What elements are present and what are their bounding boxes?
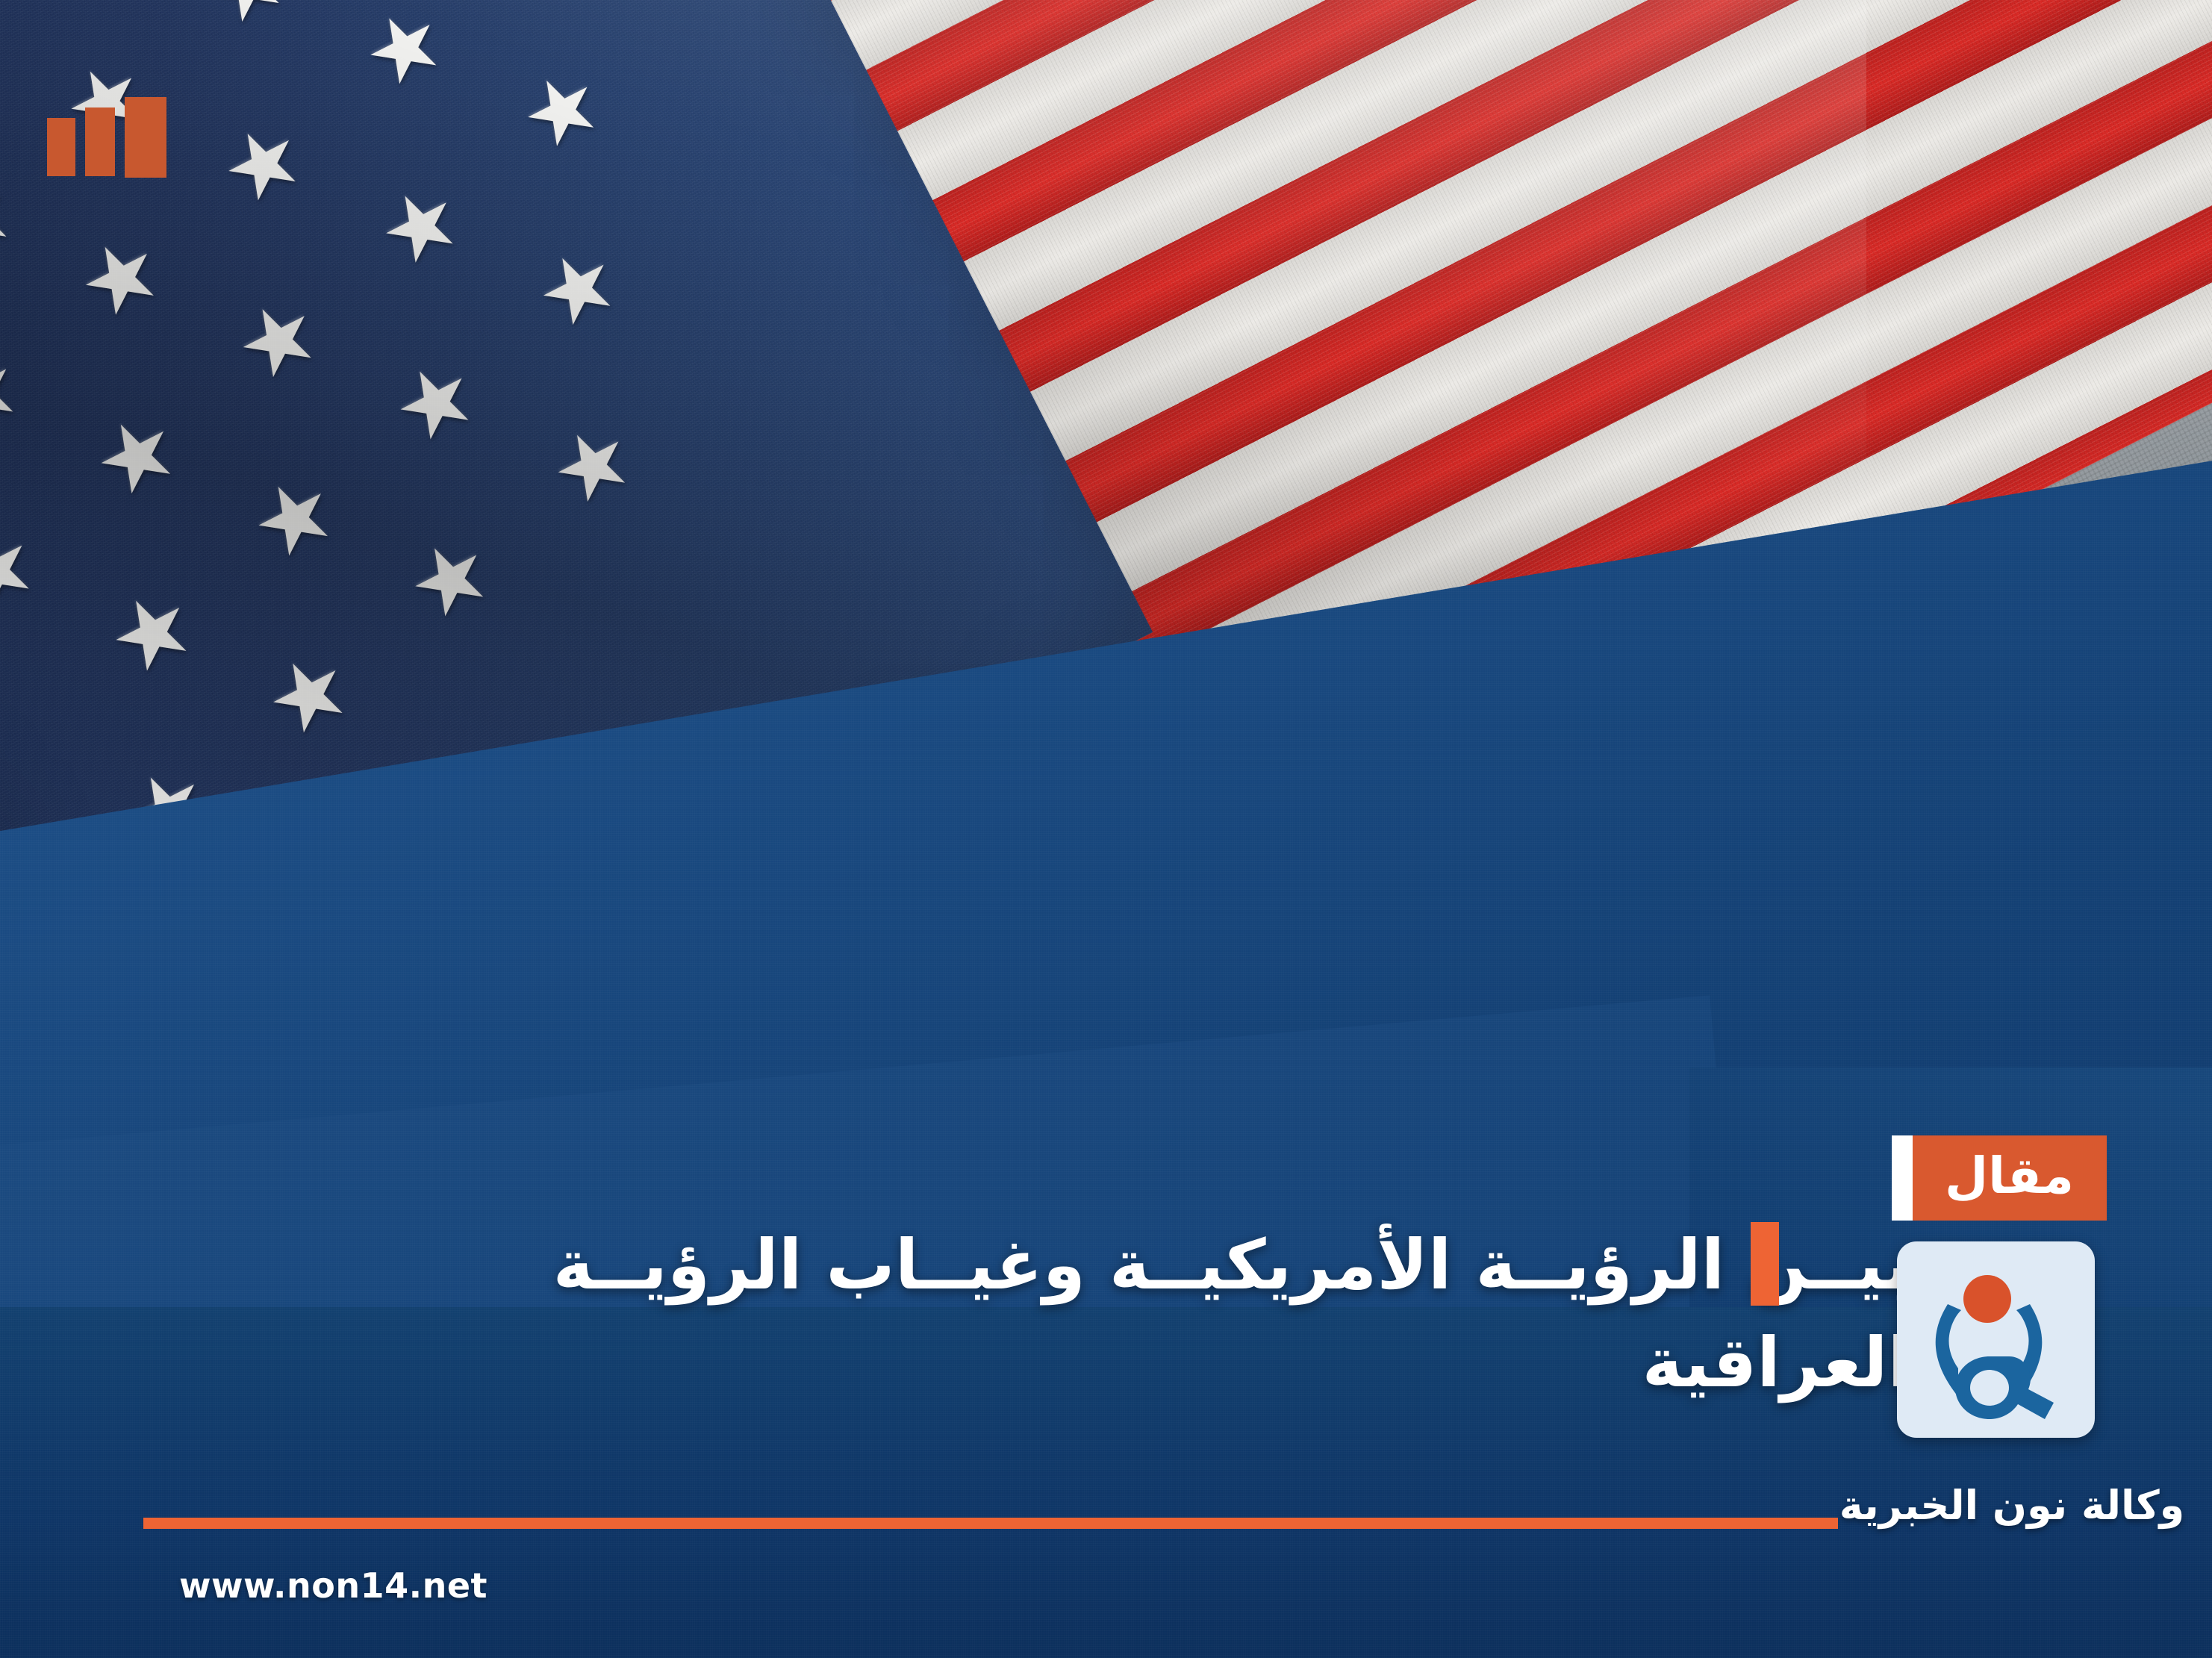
star-icon: ★ [379,345,491,461]
star-icon: ★ [237,458,351,576]
star-icon: ★ [65,220,177,337]
headline-line-2: العراقية [231,1315,1911,1412]
brand-bar-2-icon [85,107,115,176]
star-icon: ★ [193,0,301,43]
article-badge: مقال [1892,1135,2107,1221]
agency-logo-card [1897,1241,2095,1438]
star-icon: ★ [0,161,30,278]
site-url[interactable]: www.non14.net [179,1565,487,1606]
star-icon: ★ [222,282,334,399]
star-icon: ★ [394,521,506,638]
white-tick-bar-icon [1892,1135,1913,1221]
star-icon: ★ [0,511,53,631]
star-icon: ★ [508,54,616,167]
star-icon: ★ [80,396,194,514]
star-icon: ★ [94,573,210,693]
star-icon: ★ [0,334,37,452]
article-card: الله أكبر ★ ★ ★ ★ ★ ★ ★ ★ ★ ★ ★ ★ ★ ★ ★ … [0,0,2212,1658]
orange-divider-icon [143,1518,1838,1529]
star-icon: ★ [208,106,318,220]
orange-accent-bar-icon [1751,1222,1779,1306]
brand-bar-3-icon [47,118,75,176]
brand-bar-1-icon [125,97,166,178]
headline-line-1: بيــن الرؤيــة الأمريكيــة وغيــاب الرؤي… [231,1217,1911,1315]
article-badge-label: مقال [1912,1135,2107,1221]
agency-name: وكالة نون الخبرية [1833,1482,2191,1529]
star-icon: ★ [252,635,366,753]
non-agency-logo-icon [1897,1241,2095,1438]
brand-bars-logo [47,97,166,178]
headline: بيــن الرؤيــة الأمريكيــة وغيــاب الرؤي… [231,1217,1911,1412]
star-icon: ★ [523,231,633,345]
star-icon: ★ [537,408,647,522]
star-icon: ★ [350,0,458,105]
star-icon: ★ [365,168,476,282]
